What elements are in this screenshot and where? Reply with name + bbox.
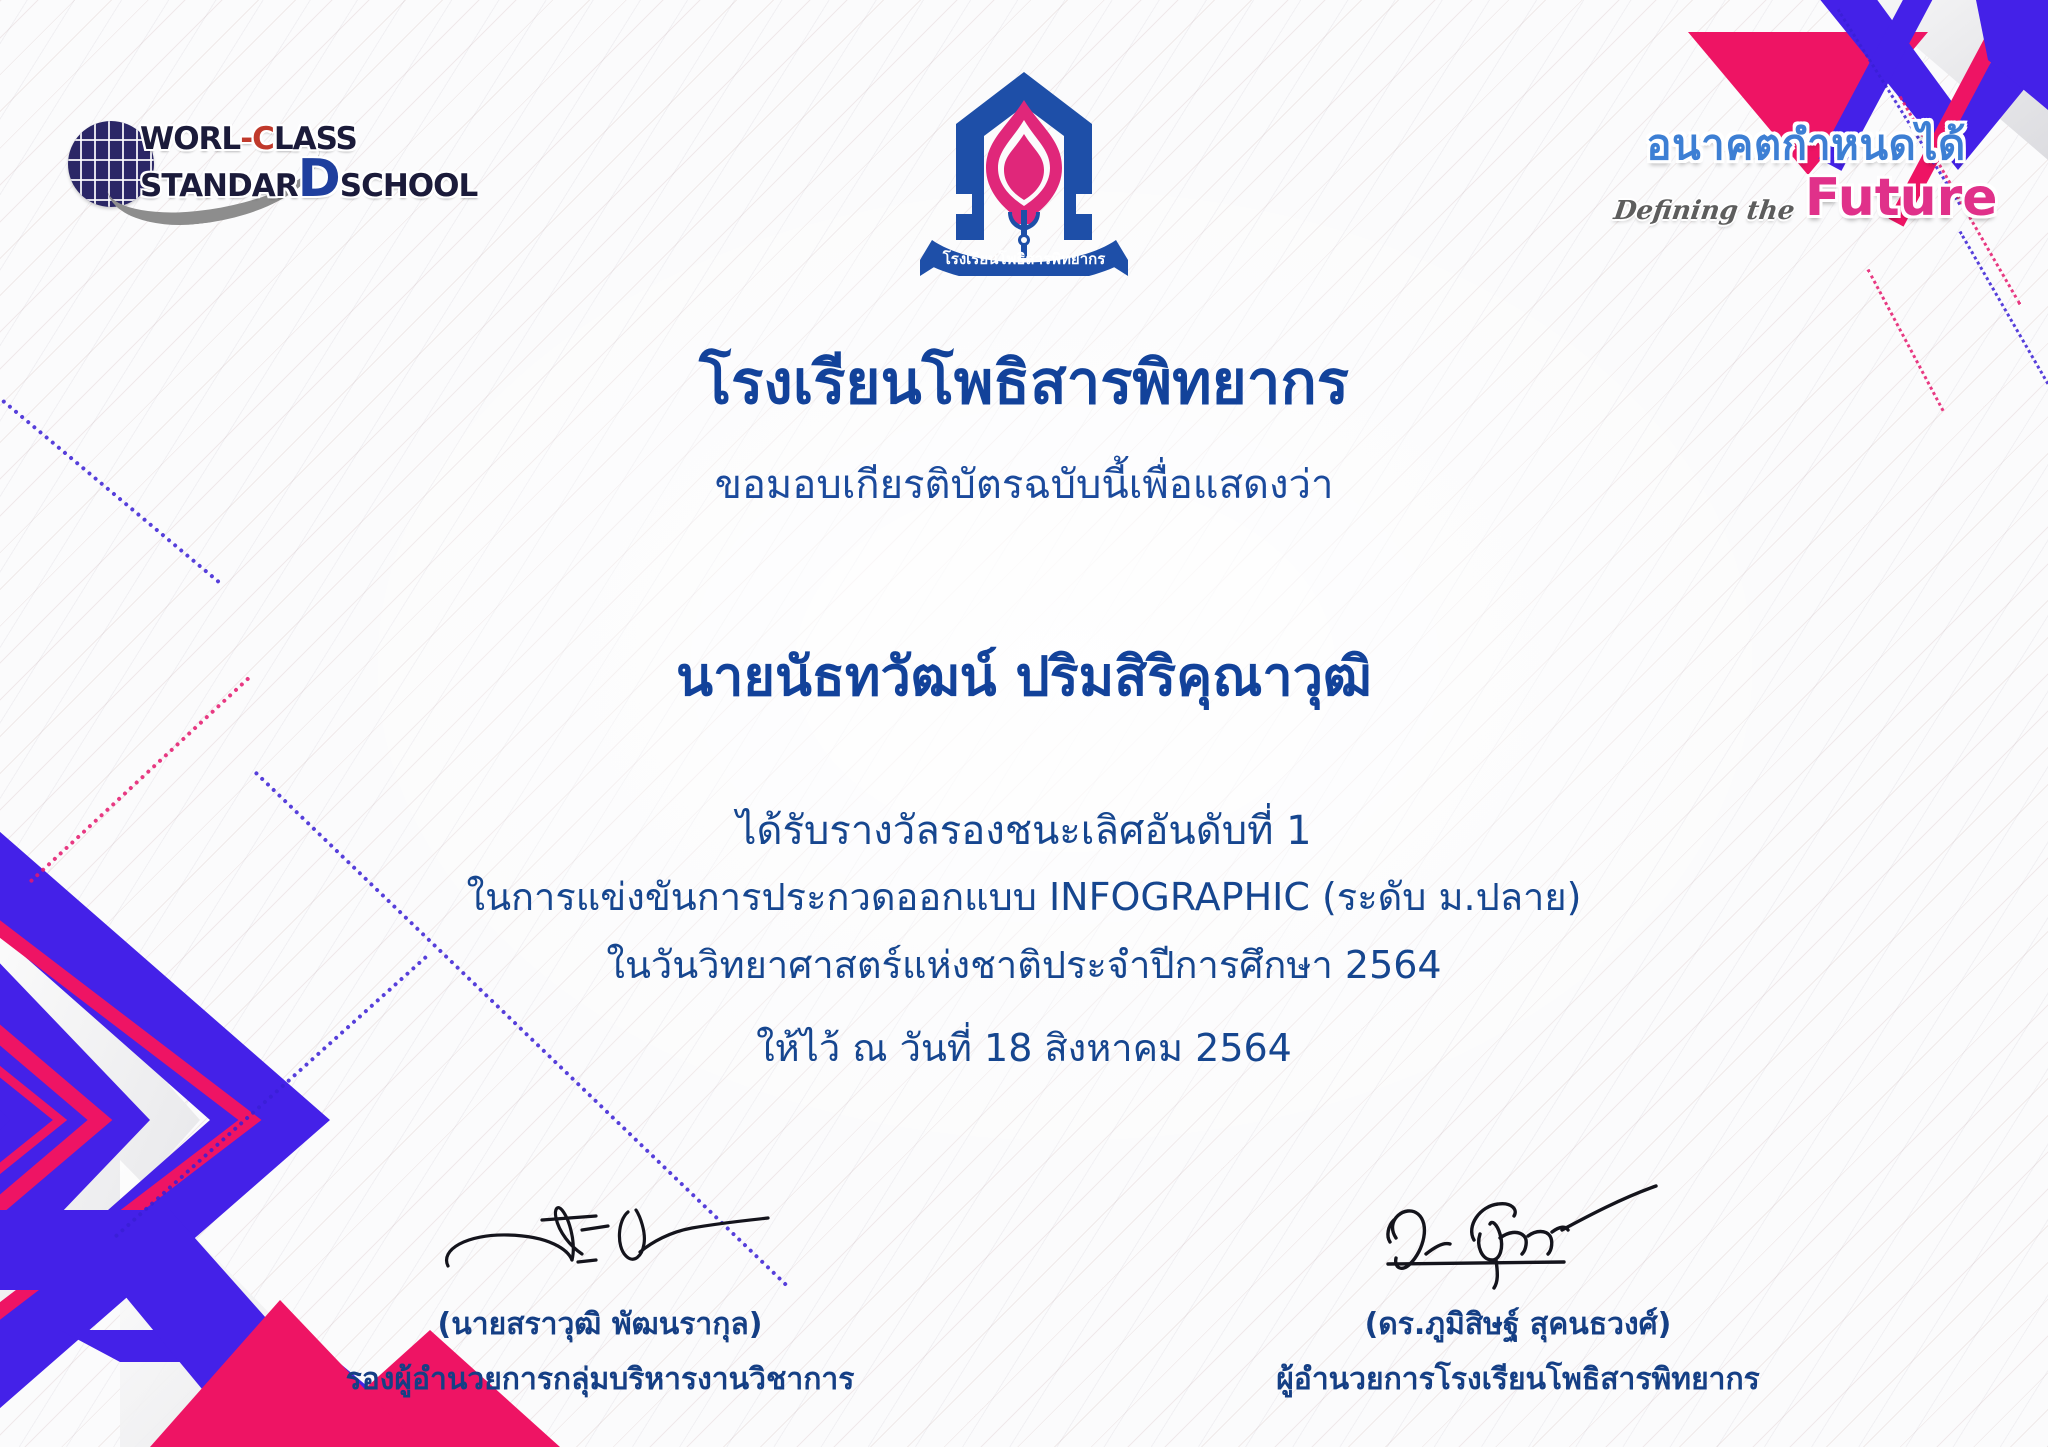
signature-image-right: [1238, 1175, 1798, 1295]
signature-name-left: (นายสราวุฒิ พัฒนรากุล): [320, 1301, 880, 1348]
world-class-logo-text: WORL-CLASS STANDARDSCHOOL: [140, 124, 477, 205]
wcss-school: SCHOOL: [340, 168, 477, 204]
future-script-text: Defining the: [1613, 198, 1797, 224]
award-line-2: ในการแข่งขันการประกวดออกแบบ INFOGRAPHIC …: [0, 866, 2048, 927]
world-class-standard-school-logo: WORL-CLASS STANDARDSCHOOL: [68, 108, 364, 220]
issue-date-line: ให้ไว้ ณ วันที่ 18 สิงหาคม 2564: [0, 1017, 2048, 1078]
recipient-name: นายนัธทวัฒน์ ปริมสิริคุณาวุฒิ: [0, 633, 2048, 719]
certificate-page: WORL-CLASS STANDARDSCHOOL: [0, 0, 2048, 1447]
school-name-heading: โรงเรียนโพธิสารพิทยากร: [0, 335, 2048, 430]
wcss-c: C: [252, 121, 274, 157]
defining-the-future-logo: อนาคตกำหนดได้ Defining the Future: [1626, 124, 1986, 224]
signature-name-right: (ดร.ภูมิสิษฐ์ สุคนธวงศ์): [1238, 1301, 1798, 1348]
signature-block-left: (นายสราวุฒิ พัฒนรากุล) รองผู้อำนวยการกลุ…: [320, 1175, 880, 1403]
award-line-1: ได้รับรางวัลรองชนะเลิศอันดับที่ 1: [0, 798, 2048, 862]
wcss-w: W: [140, 121, 173, 157]
future-word-text: Future: [1805, 172, 1998, 224]
wcss-standar: STANDAR: [140, 168, 298, 204]
signature-block-right: (ดร.ภูมิสิษฐ์ สุคนธวงศ์) ผู้อำนวยการโรงเ…: [1238, 1175, 1798, 1403]
future-thai-text: อนาคตกำหนดได้: [1626, 124, 1986, 166]
school-emblem: โรงเรียนโพธิสารพิทยากร ปญฺญา หิ เสฏฺฐา ห…: [916, 64, 1132, 276]
emblem-ribbon-text: โรงเรียนโพธิสารพิทยากร: [942, 249, 1106, 268]
wcss-dash: -: [240, 121, 252, 157]
signature-title-right: ผู้อำนวยการโรงเรียนโพธิสารพิทยากร: [1238, 1356, 1798, 1403]
certificate-intro-line: ขอมอบเกียรติบัตรฉบับนี้เพื่อแสดงว่า: [0, 452, 2048, 516]
award-line-3: ในวันวิทยาศาสตร์แห่งชาติประจำปีการศึกษา …: [0, 934, 2048, 995]
wcss-orl: ORL: [173, 121, 240, 157]
signature-image-left: [320, 1175, 880, 1295]
wcss-d: D: [298, 149, 340, 209]
signature-title-left: รองผู้อำนวยการกลุ่มบริหารงานวิชาการ: [320, 1356, 880, 1403]
